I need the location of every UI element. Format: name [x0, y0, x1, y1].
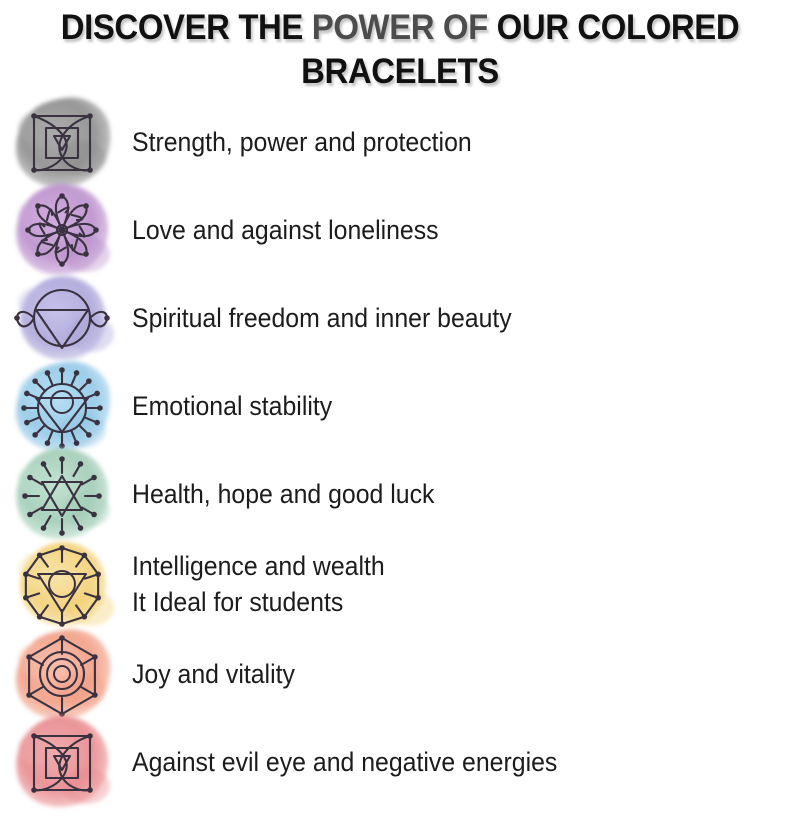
benefit-text-cell: Emotional stability — [128, 387, 800, 425]
benefit-row: Strength, power and protection — [0, 98, 800, 186]
title-line-1: DISCOVER THE POWER OF OUR COLORED — [24, 6, 776, 50]
benefit-text: Strength, power and protection — [132, 123, 747, 161]
chakra-root-red-icon — [8, 710, 120, 814]
benefit-text-cell: Intelligence and wealthIt Ideal for stud… — [128, 547, 800, 621]
benefit-text-secondary: It Ideal for students — [132, 583, 747, 621]
benefit-text: Intelligence and wealth — [132, 547, 747, 585]
benefit-text-cell: Joy and vitality — [128, 655, 800, 693]
benefit-icon-cell — [0, 98, 128, 186]
title-line-1-part-b: OUR COLORED — [488, 8, 739, 47]
benefit-icon-cell — [0, 538, 128, 630]
benefit-row: Against evil eye and negative energies — [0, 718, 800, 806]
benefit-text: Joy and vitality — [132, 655, 747, 693]
benefit-icon-cell — [0, 274, 128, 362]
benefit-text: Love and against loneliness — [132, 211, 747, 249]
benefit-text: Health, hope and good luck — [132, 475, 747, 513]
benefits-list: Strength, power and protectionLove and a… — [0, 98, 800, 806]
benefit-row: Emotional stability — [0, 362, 800, 450]
chakra-heart-green-icon — [8, 442, 120, 546]
title-line-1-part-a: DISCOVER THE — [61, 8, 312, 47]
benefit-text: Emotional stability — [132, 387, 747, 425]
benefit-text-cell: Strength, power and protection — [128, 123, 800, 161]
benefit-icon-cell — [0, 718, 128, 806]
benefit-icon-cell — [0, 186, 128, 274]
benefit-row: Love and against loneliness — [0, 186, 800, 274]
title-line-1-highlight: POWER OF — [312, 8, 488, 47]
benefit-text-cell: Health, hope and good luck — [128, 475, 800, 513]
benefit-text-cell: Spiritual freedom and inner beauty — [128, 299, 800, 337]
benefit-text: Spiritual freedom and inner beauty — [132, 299, 747, 337]
benefit-row: Intelligence and wealthIt Ideal for stud… — [0, 538, 800, 630]
benefit-text: Against evil eye and negative energies — [132, 743, 747, 781]
benefit-row: Joy and vitality — [0, 630, 800, 718]
benefit-icon-cell — [0, 362, 128, 450]
benefit-icon-cell — [0, 450, 128, 538]
benefit-icon-cell — [0, 630, 128, 718]
benefit-row: Health, hope and good luck — [0, 450, 800, 538]
benefit-text-cell: Against evil eye and negative energies — [128, 743, 800, 781]
benefit-text-cell: Love and against loneliness — [128, 211, 800, 249]
page-title: DISCOVER THE POWER OF OUR COLORED BRACEL… — [0, 0, 800, 94]
benefit-row: Spiritual freedom and inner beauty — [0, 274, 800, 362]
title-line-2: BRACELETS — [24, 50, 776, 94]
chakra-solar-plexus-yellow-icon — [8, 532, 120, 636]
